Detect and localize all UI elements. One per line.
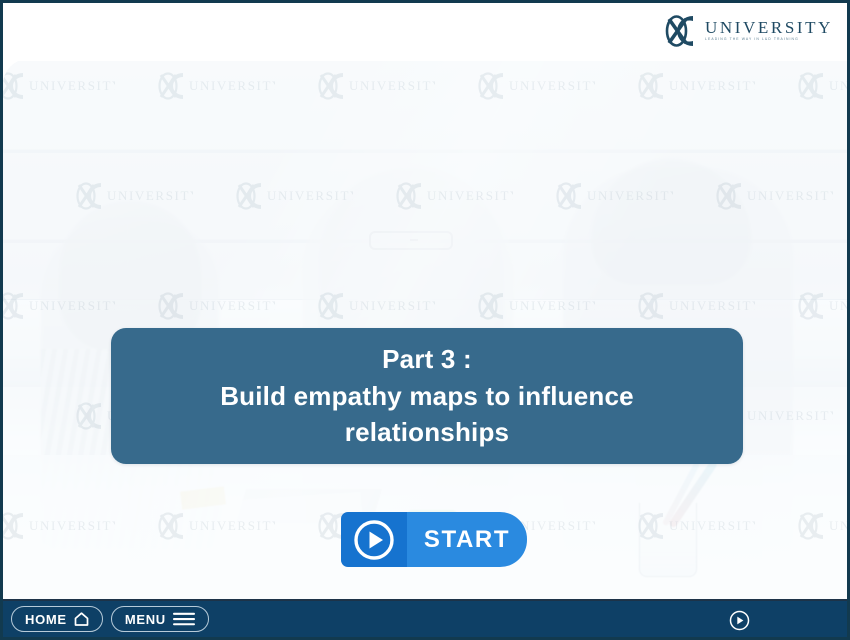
slide-title-card: Part 3 : Build empathy maps to influence… — [111, 328, 743, 464]
photo-person-center-glasses — [369, 231, 453, 250]
brand-tagline: LEADING THE WAY IN L&D TRAINING — [705, 38, 833, 41]
slide-title-part: Part 3 : — [382, 341, 472, 378]
slide-title-heading: Build empathy maps to influence relation… — [111, 378, 743, 452]
hamburger-icon — [173, 612, 195, 626]
menu-button-label: MENU — [125, 612, 166, 627]
home-icon — [74, 612, 89, 626]
brand-text: UNIVERSITY LEADING THE WAY IN L&D TRAINI… — [705, 19, 833, 44]
play-circle-icon — [352, 518, 396, 562]
course-player-frame: UNIVERSITY LEADING THE WAY IN L&D TRAINI… — [0, 0, 850, 640]
slide-stage: UNIVERSITYUNIVERSITYUNIVERSITYUNIVERSITY… — [3, 59, 847, 605]
next-slide-button[interactable] — [729, 610, 750, 631]
home-button[interactable]: HOME — [11, 606, 103, 632]
header-bar: UNIVERSITY LEADING THE WAY IN L&D TRAINI… — [3, 3, 847, 61]
start-button-label: START — [424, 526, 510, 554]
start-button-icon-area[interactable] — [341, 512, 407, 567]
brand-logo: UNIVERSITY LEADING THE WAY IN L&D TRAINI… — [661, 11, 833, 51]
brand-name: UNIVERSITY — [705, 19, 833, 36]
x-c-monogram-icon — [661, 12, 701, 50]
start-button[interactable]: START — [341, 512, 527, 567]
menu-button[interactable]: MENU — [111, 606, 209, 632]
start-button-label-area[interactable]: START — [407, 512, 527, 567]
home-button-label: HOME — [25, 612, 67, 627]
bottom-navigation-bar: HOME MENU — [3, 599, 847, 637]
